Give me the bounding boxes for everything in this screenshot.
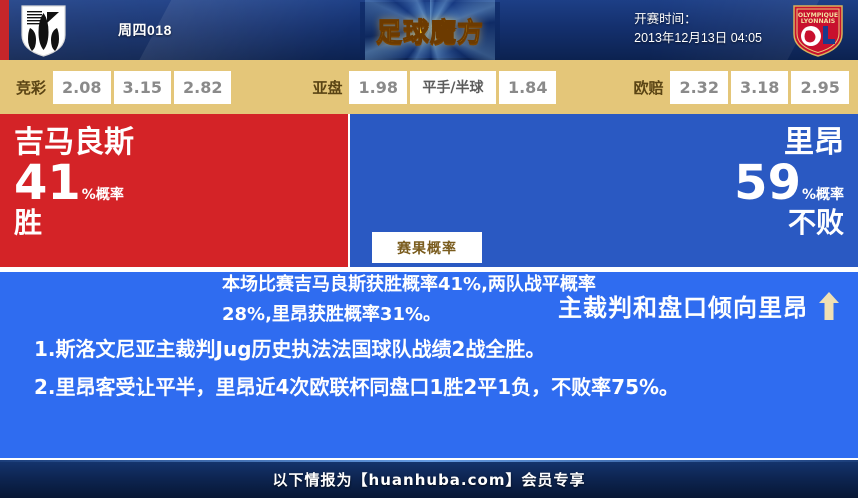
odds-group-title: 欧赔 — [633, 77, 663, 98]
odds-cell-away[interactable]: 2.95 — [791, 71, 848, 104]
probability-section: 吉马良斯 41 %概率 胜 里昂 59 %概率 不败 赛果概率 本场比赛吉马良斯… — [0, 114, 858, 267]
analysis-body: 1.斯洛文尼亚主裁判Jug历史执法法国球队战绩2战全胜。 2.里昂客受让平半，里… — [34, 330, 830, 406]
away-probability-suffix: %概率 — [801, 188, 844, 206]
odds-cell-draw[interactable]: 3.18 — [731, 71, 788, 104]
odds-group-jingcai: 竞彩 2.08 3.15 2.82 — [16, 71, 234, 104]
olympique-lyonnais-crest: OLYMPIQUE LYONNAIS — [790, 3, 846, 58]
away-probability-number: 59 — [734, 160, 801, 206]
odds-bar: 竞彩 2.08 3.15 2.82 亚盘 1.98 平手/半球 1.84 欧赔 … — [0, 60, 858, 114]
away-team-block: 里昂 59 %概率 不败 — [734, 126, 844, 239]
home-team-block: 吉马良斯 41 %概率 胜 — [14, 126, 134, 239]
odds-cell-away[interactable]: 2.82 — [174, 71, 231, 104]
analysis-line-2: 2.里昂客受让平半，里昂近4次欧联杯同盘口1胜2平1负，不败率75%。 — [34, 368, 830, 406]
odds-group-title: 竞彩 — [16, 77, 46, 98]
match-prediction-page: 周四018 足球魔方 开赛时间： 2013年12月13日 04:05 OLYMP… — [0, 0, 858, 498]
home-probability-number: 41 — [14, 160, 81, 206]
away-probability-value: 59 %概率 — [734, 160, 844, 206]
vitoria-guimaraes-crest — [16, 3, 71, 58]
svg-text:LYONNAIS: LYONNAIS — [801, 18, 835, 25]
odds-cell-home[interactable]: 2.32 — [670, 71, 727, 104]
footer-text: 以下情报为【huanhuba.com】会员专享 — [273, 469, 586, 490]
page-header: 周四018 足球魔方 开赛时间： 2013年12月13日 04:05 OLYMP… — [0, 0, 858, 60]
odds-cell-home[interactable]: 1.98 — [349, 71, 406, 104]
header-red-edge — [0, 0, 9, 60]
away-result-label: 不败 — [734, 207, 844, 239]
kickoff-info: 开赛时间： 2013年12月13日 04:05 — [634, 10, 762, 48]
tab-result-probability[interactable]: 赛果概率 — [372, 232, 482, 263]
home-probability-panel: 吉马良斯 41 %概率 胜 — [0, 114, 348, 267]
brand-logo: 足球魔方 — [360, 2, 500, 58]
analysis-line-1: 1.斯洛文尼亚主裁判Jug历史执法法国球队战绩2战全胜。 — [34, 330, 830, 368]
page-footer: 以下情报为【huanhuba.com】会员专享 — [0, 460, 858, 498]
odds-cell-handicap[interactable]: 平手/半球 — [410, 71, 496, 104]
odds-group-title: 亚盘 — [312, 77, 342, 98]
odds-cell-draw[interactable]: 3.15 — [114, 71, 171, 104]
home-result-label: 胜 — [14, 207, 134, 239]
odds-group-asian: 亚盘 1.98 平手/半球 1.84 — [312, 71, 559, 104]
home-probability-value: 41 %概率 — [14, 160, 134, 206]
brand-logo-text: 足球魔方 — [376, 12, 484, 49]
odds-cell-home[interactable]: 2.08 — [53, 71, 110, 104]
probability-description: 本场比赛吉马良斯获胜概率41%,两队战平概率28%,里昂获胜概率31%。 — [222, 270, 622, 330]
home-probability-suffix: %概率 — [81, 188, 124, 206]
odds-cell-away[interactable]: 1.84 — [499, 71, 556, 104]
odds-group-european: 欧赔 2.32 3.18 2.95 — [633, 71, 851, 104]
kickoff-time: 2013年12月13日 04:05 — [634, 29, 762, 48]
kickoff-label: 开赛时间： — [634, 10, 762, 29]
arrow-up-icon — [818, 291, 840, 321]
match-number: 周四018 — [118, 20, 172, 40]
